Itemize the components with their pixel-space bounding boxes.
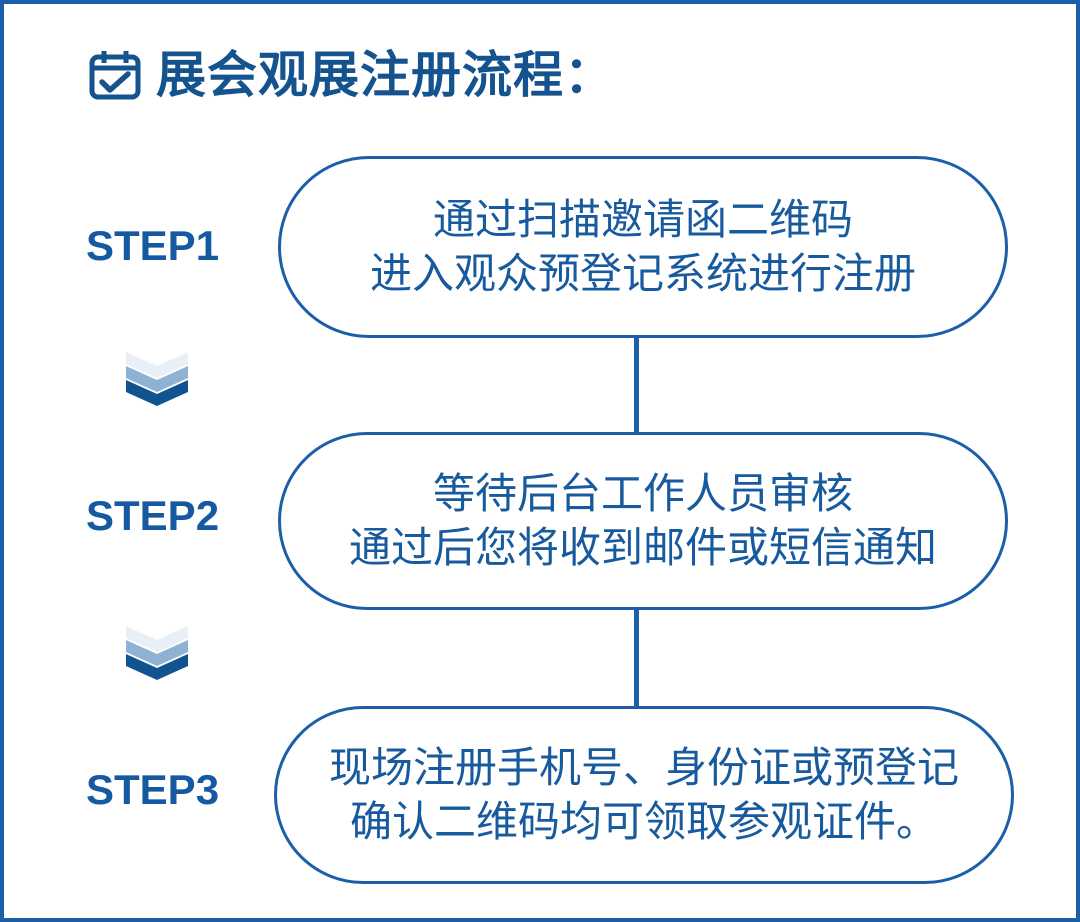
step-box-3: 现场注册手机号、身份证或预登记 确认二维码均可领取参观证件。: [274, 706, 1014, 884]
page-title: 展会观展注册流程：: [88, 40, 615, 110]
step-box-1-line-2: 进入观众预登记系统进行注册: [370, 247, 916, 301]
chevron-group-2-icon: [126, 626, 188, 680]
connector-step1-step2: [634, 334, 639, 438]
step-box-3-line-2: 确认二维码均可领取参观证件。: [350, 795, 938, 849]
chevron-group-1-icon: [126, 352, 188, 406]
step-label-1: STEP1: [86, 222, 219, 270]
step-label-3: STEP3: [86, 766, 219, 814]
calendar-check-icon: [88, 49, 142, 101]
connector-step2-step3: [634, 606, 639, 712]
step-box-1: 通过扫描邀请函二维码 进入观众预登记系统进行注册: [278, 156, 1008, 338]
step-box-2-line-2: 通过后您将收到邮件或短信通知: [349, 521, 937, 575]
step-box-1-line-1: 通过扫描邀请函二维码: [433, 193, 853, 247]
step-box-2: 等待后台工作人员审核 通过后您将收到邮件或短信通知: [278, 432, 1008, 610]
page-title-text: 展会观展注册流程：: [156, 50, 615, 100]
registration-flow-infographic: 展会观展注册流程： STEP1 STEP2 STEP3 通过扫描邀请函二维码 进…: [0, 0, 1080, 922]
step-label-2: STEP2: [86, 492, 219, 540]
step-box-2-line-1: 等待后台工作人员审核: [433, 467, 853, 521]
step-box-3-line-1: 现场注册手机号、身份证或预登记: [329, 741, 959, 795]
